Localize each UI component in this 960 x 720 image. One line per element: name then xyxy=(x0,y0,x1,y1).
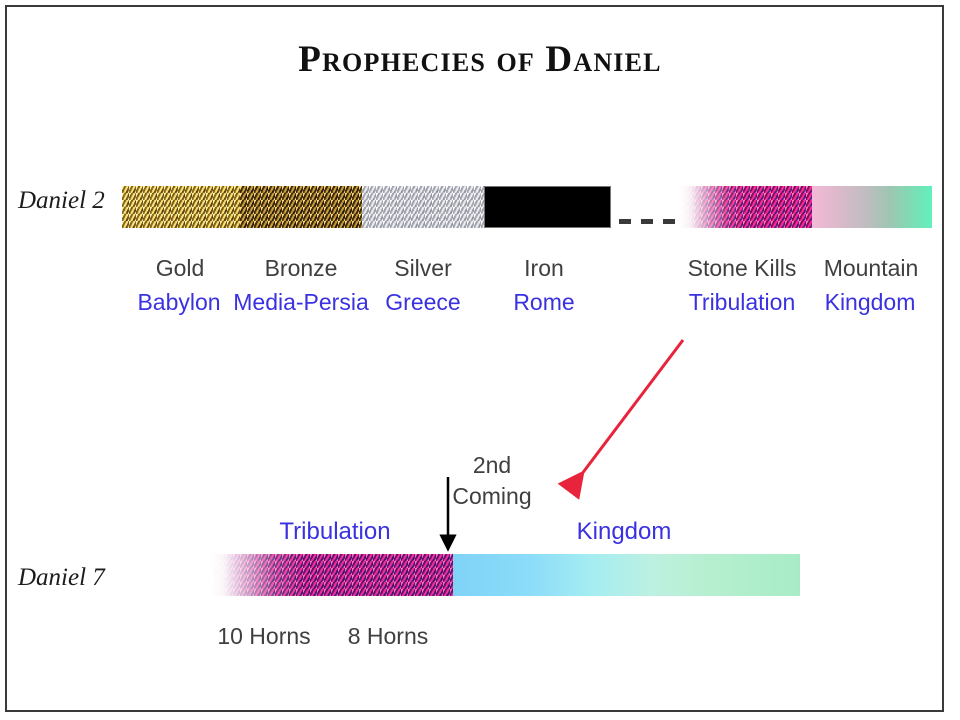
silver-texture xyxy=(362,186,484,228)
daniel-2-row-label: Daniel 2 xyxy=(18,187,105,215)
caption-rome: Rome xyxy=(484,289,604,316)
daniel-2-gap-dashed-line xyxy=(619,219,683,224)
daniel-2-segment-mountain xyxy=(812,186,932,228)
label-ten-horns: 10 Horns xyxy=(205,623,323,650)
caption-mountain: Mountain xyxy=(808,255,934,282)
second-coming-label-line1: 2nd xyxy=(440,452,544,479)
caption-silver: Silver xyxy=(362,255,484,282)
daniel-7-row-label: Daniel 7 xyxy=(18,564,105,592)
caption-greece: Greece xyxy=(362,289,484,316)
red-connector-arrow xyxy=(572,340,683,487)
tribulation-fade-overlay xyxy=(212,554,453,596)
bronze-texture xyxy=(240,186,362,228)
label-eight-horns: 8 Horns xyxy=(333,623,443,650)
gold-texture xyxy=(122,186,240,228)
label-tribulation-d7: Tribulation xyxy=(255,518,415,546)
daniel-2-segment-stone xyxy=(680,186,812,228)
daniel-2-segment-gold xyxy=(122,186,240,228)
page-title: Prophecies of Daniel xyxy=(0,38,960,81)
daniel-7-segment-tribulation xyxy=(212,554,453,596)
stone-fade-overlay xyxy=(680,186,812,228)
caption-tribulation-d2: Tribulation xyxy=(668,289,816,316)
label-kingdom-d7: Kingdom xyxy=(545,518,703,546)
daniel-7-segment-kingdom xyxy=(453,554,800,596)
daniel-2-segment-bronze xyxy=(240,186,362,228)
caption-stone-kills: Stone Kills xyxy=(672,255,812,282)
daniel-2-segment-silver xyxy=(362,186,484,228)
caption-kingdom-d2: Kingdom xyxy=(806,289,934,316)
daniel-2-segment-iron xyxy=(484,186,611,228)
second-coming-label-line2: Coming xyxy=(440,483,544,510)
slide-border xyxy=(5,5,944,712)
arrow-layer xyxy=(0,0,960,720)
caption-iron: Iron xyxy=(484,255,604,282)
caption-gold: Gold xyxy=(121,255,239,282)
slide-canvas: Prophecies of Daniel Daniel 2 Gold Bronz… xyxy=(0,0,960,720)
caption-bronze: Bronze xyxy=(240,255,362,282)
caption-media-persia: Media-Persia xyxy=(228,289,374,316)
caption-babylon: Babylon xyxy=(119,289,239,316)
